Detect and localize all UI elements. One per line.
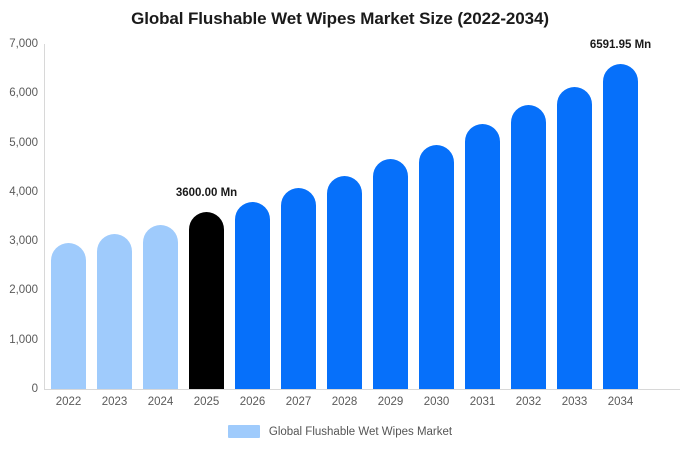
legend-label: Global Flushable Wet Wipes Market xyxy=(269,426,452,438)
bar-2029[interactable] xyxy=(373,159,408,389)
bar-2031[interactable] xyxy=(465,124,500,389)
x-tick-label: 2022 xyxy=(56,396,82,408)
bar-2028[interactable] xyxy=(327,176,362,389)
y-tick-label: 2,000 xyxy=(0,284,38,296)
legend-swatch xyxy=(228,425,260,438)
bar-2027[interactable] xyxy=(281,188,316,389)
x-tick-label: 2026 xyxy=(240,396,266,408)
bar-2025[interactable] xyxy=(189,212,224,389)
y-tick-label: 0 xyxy=(0,383,38,395)
x-tick-label: 2027 xyxy=(286,396,312,408)
bar-value-label: 3600.00 Mn xyxy=(176,187,237,199)
x-tick-label: 2025 xyxy=(194,396,220,408)
bar-2022[interactable] xyxy=(51,243,86,389)
chart-title: Global Flushable Wet Wipes Market Size (… xyxy=(0,9,680,29)
x-tick-label: 2033 xyxy=(562,396,588,408)
x-tick-label: 2030 xyxy=(424,396,450,408)
y-tick-label: 4,000 xyxy=(0,186,38,198)
bar-2030[interactable] xyxy=(419,145,454,389)
x-tick-label: 2024 xyxy=(148,396,174,408)
chart-legend: Global Flushable Wet Wipes Market xyxy=(0,425,680,438)
x-tick-label: 2031 xyxy=(470,396,496,408)
y-axis-tick-labels: 7,0006,0005,0004,0003,0002,0001,0000 xyxy=(0,0,38,450)
x-axis-line xyxy=(44,389,680,390)
bar-2026[interactable] xyxy=(235,202,270,389)
y-tick-label: 3,000 xyxy=(0,235,38,247)
bar-2023[interactable] xyxy=(97,234,132,389)
bar-value-label: 6591.95 Mn xyxy=(590,39,651,51)
y-tick-label: 7,000 xyxy=(0,38,38,50)
x-tick-label: 2029 xyxy=(378,396,404,408)
x-tick-label: 2023 xyxy=(102,396,128,408)
bar-2032[interactable] xyxy=(511,105,546,389)
x-tick-label: 2034 xyxy=(608,396,634,408)
chart-container: Global Flushable Wet Wipes Market Size (… xyxy=(0,0,680,450)
x-tick-label: 2028 xyxy=(332,396,358,408)
y-tick-label: 6,000 xyxy=(0,87,38,99)
bar-2024[interactable] xyxy=(143,225,178,389)
bar-2033[interactable] xyxy=(557,87,592,389)
bar-2034[interactable] xyxy=(603,64,638,389)
y-tick-label: 5,000 xyxy=(0,137,38,149)
plot-area xyxy=(44,44,680,389)
y-tick-label: 1,000 xyxy=(0,334,38,346)
x-tick-label: 2032 xyxy=(516,396,542,408)
